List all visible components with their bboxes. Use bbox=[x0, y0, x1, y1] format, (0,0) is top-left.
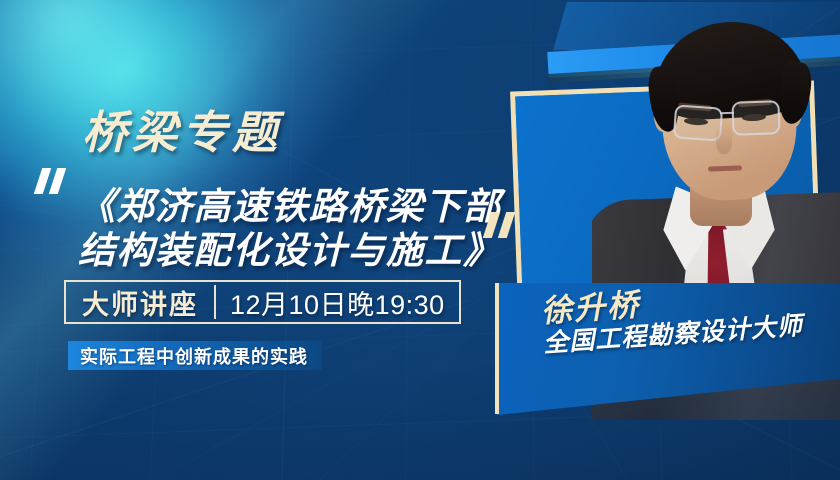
lecture-type-tag: 大师讲座 bbox=[66, 282, 214, 322]
open-quote-icon bbox=[38, 168, 72, 194]
close-quote-icon bbox=[487, 212, 519, 238]
lecture-datetime: 12月10日晚19:30 bbox=[216, 282, 459, 322]
poster-title-line-2: 结构装配化设计与施工》 bbox=[78, 220, 502, 274]
speaker-panel-gold-edge bbox=[495, 283, 499, 414]
lecture-info-row: 大师讲座 12月10日晚19:30 bbox=[64, 280, 461, 324]
poster-subtitle: 实际工程中创新成果的实践 bbox=[80, 343, 308, 369]
poster-kicker: 桥梁专题 bbox=[82, 96, 282, 161]
lecture-poster: 徐升桥 全国工程勘察设计大师 桥梁专题 《郑济高速铁路桥梁下部 结构装配化设计与… bbox=[0, 0, 840, 480]
poster-subtitle-bar: 实际工程中创新成果的实践 bbox=[68, 341, 322, 370]
